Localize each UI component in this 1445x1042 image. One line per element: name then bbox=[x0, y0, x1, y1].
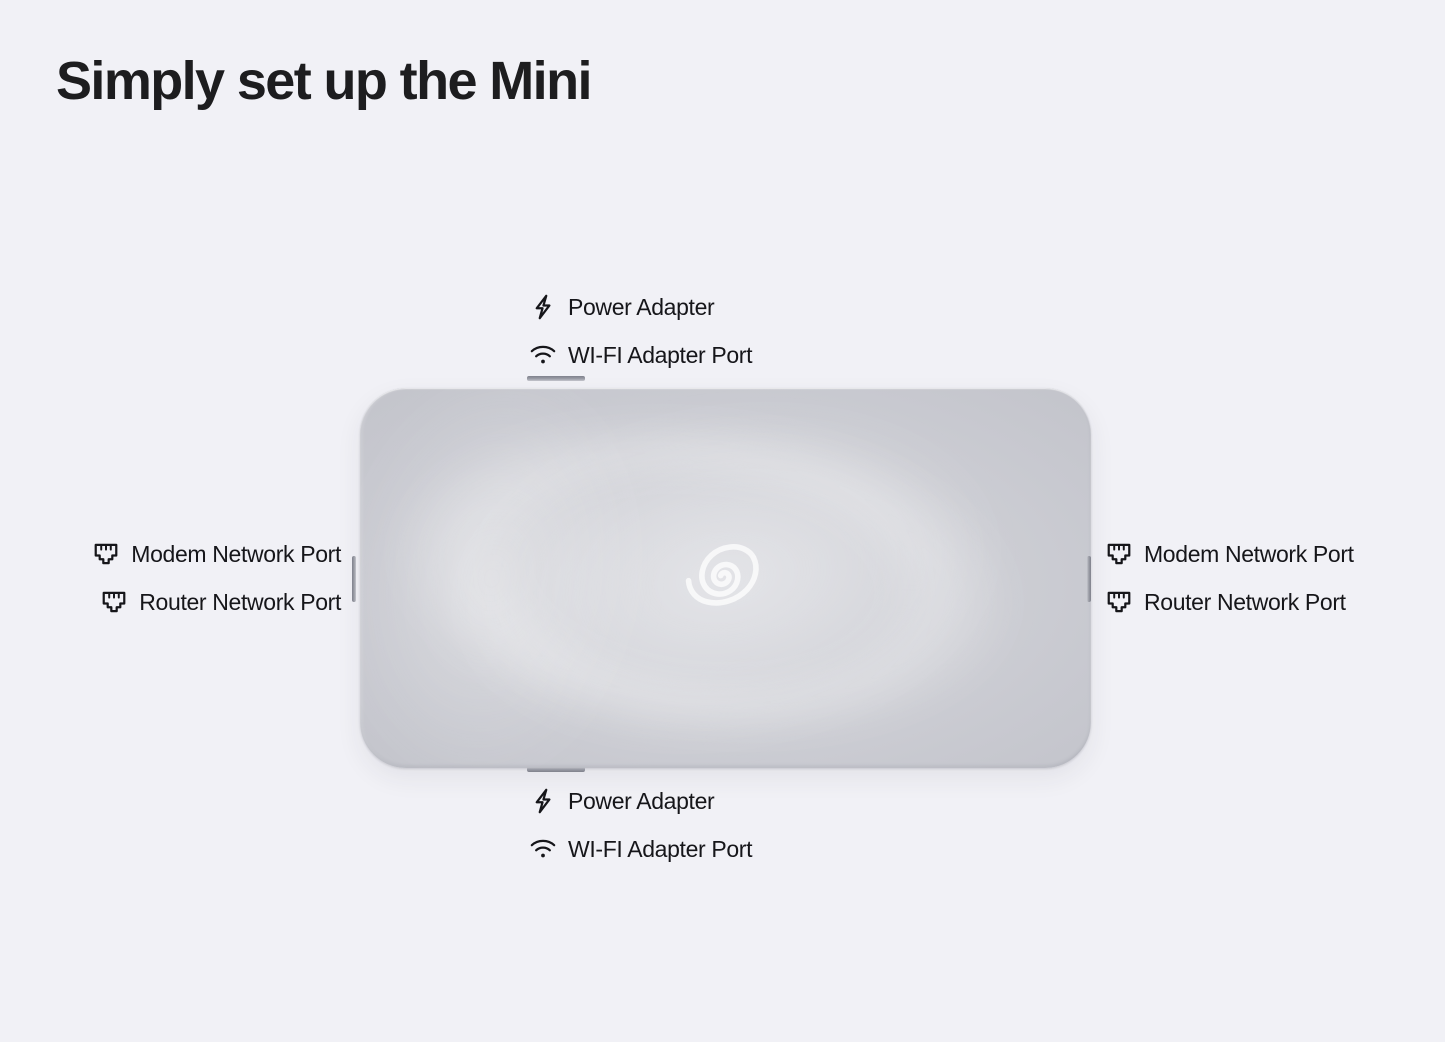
device-port-mark-right bbox=[1087, 556, 1091, 602]
callout-label: Power Adapter bbox=[568, 790, 714, 813]
callout-top-wifi-adapter-port: WI-FI Adapter Port bbox=[529, 341, 752, 369]
device-sheen-left bbox=[360, 388, 676, 768]
callout-label: Router Network Port bbox=[139, 591, 341, 614]
device-sheen-ring bbox=[360, 388, 1091, 768]
device-edge-highlight bbox=[360, 388, 1091, 768]
callout-left-modem-network-port: Modem Network Port bbox=[92, 540, 341, 568]
callout-label: WI-FI Adapter Port bbox=[568, 838, 752, 861]
power-bolt-icon bbox=[529, 293, 557, 321]
callout-label: WI-FI Adapter Port bbox=[568, 344, 752, 367]
callout-label: Power Adapter bbox=[568, 296, 714, 319]
mini-device-body bbox=[360, 388, 1091, 768]
ethernet-port-icon bbox=[100, 588, 128, 616]
ethernet-port-icon bbox=[1105, 588, 1133, 616]
wifi-icon bbox=[529, 341, 557, 369]
callout-right-router-network-port: Router Network Port bbox=[1105, 588, 1346, 616]
device-setup-diagram: Power Adapter WI-FI Adapter Port Power A… bbox=[0, 0, 1445, 1042]
callout-left-router-network-port: Router Network Port bbox=[100, 588, 341, 616]
callout-right-modem-network-port: Modem Network Port bbox=[1105, 540, 1354, 568]
device-sheen-inner bbox=[422, 388, 1028, 768]
callout-top-power-adapter: Power Adapter bbox=[529, 293, 714, 321]
spiral-logo-icon bbox=[674, 526, 778, 630]
callout-label: Modem Network Port bbox=[1144, 543, 1354, 566]
callout-bottom-power-adapter: Power Adapter bbox=[529, 787, 714, 815]
device-port-mark-left bbox=[352, 556, 356, 602]
ethernet-port-icon bbox=[1105, 540, 1133, 568]
callout-label: Router Network Port bbox=[1144, 591, 1346, 614]
device-port-mark-bottom bbox=[527, 767, 585, 772]
callout-bottom-wifi-adapter-port: WI-FI Adapter Port bbox=[529, 835, 752, 863]
device-port-mark-top bbox=[527, 376, 585, 381]
callout-label: Modem Network Port bbox=[131, 543, 341, 566]
ethernet-port-icon bbox=[92, 540, 120, 568]
power-bolt-icon bbox=[529, 787, 557, 815]
wifi-icon bbox=[529, 835, 557, 863]
